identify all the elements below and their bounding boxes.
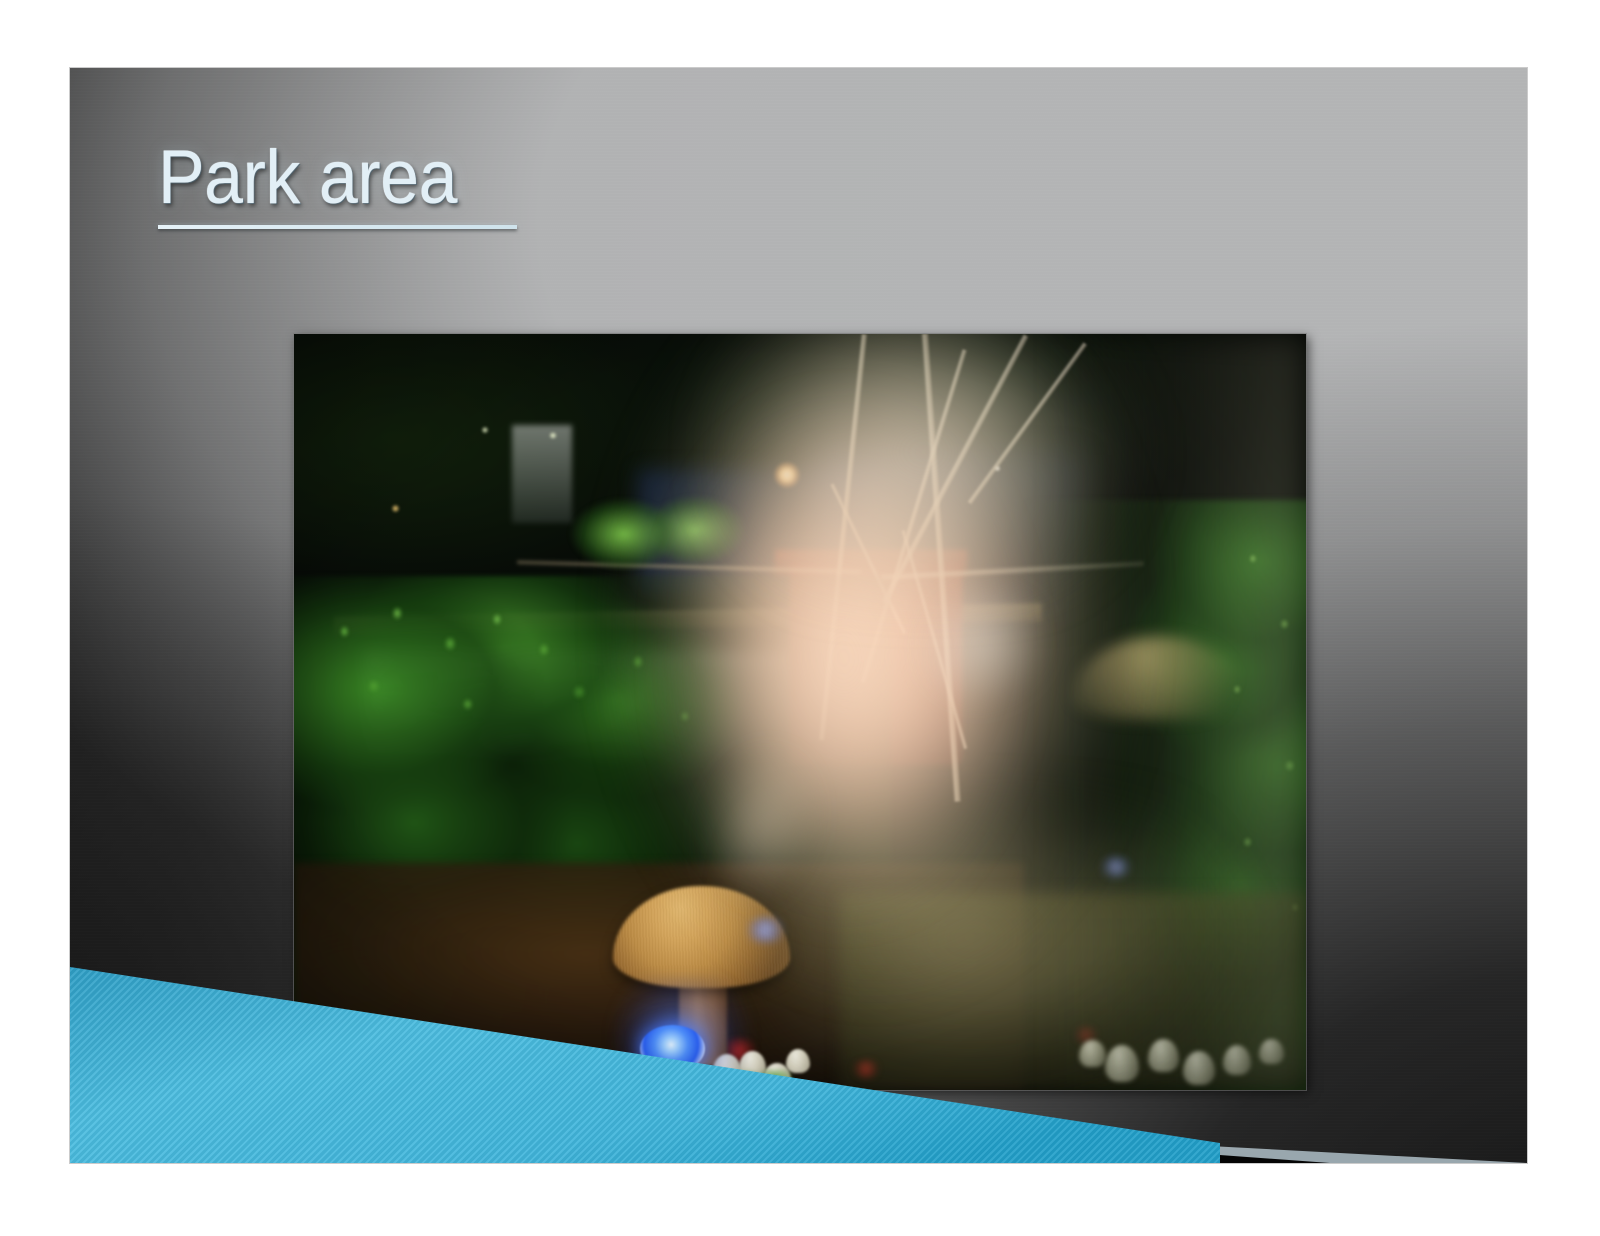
title-block: Park area <box>158 140 798 229</box>
park-photo[interactable] <box>294 334 1306 1090</box>
presentation-slide: Park area <box>70 68 1527 1163</box>
screenshot-canvas: Park area <box>0 0 1600 1236</box>
title-underline <box>158 225 517 229</box>
page-title: Park area <box>158 140 747 216</box>
photo-vignette <box>294 334 1306 1090</box>
